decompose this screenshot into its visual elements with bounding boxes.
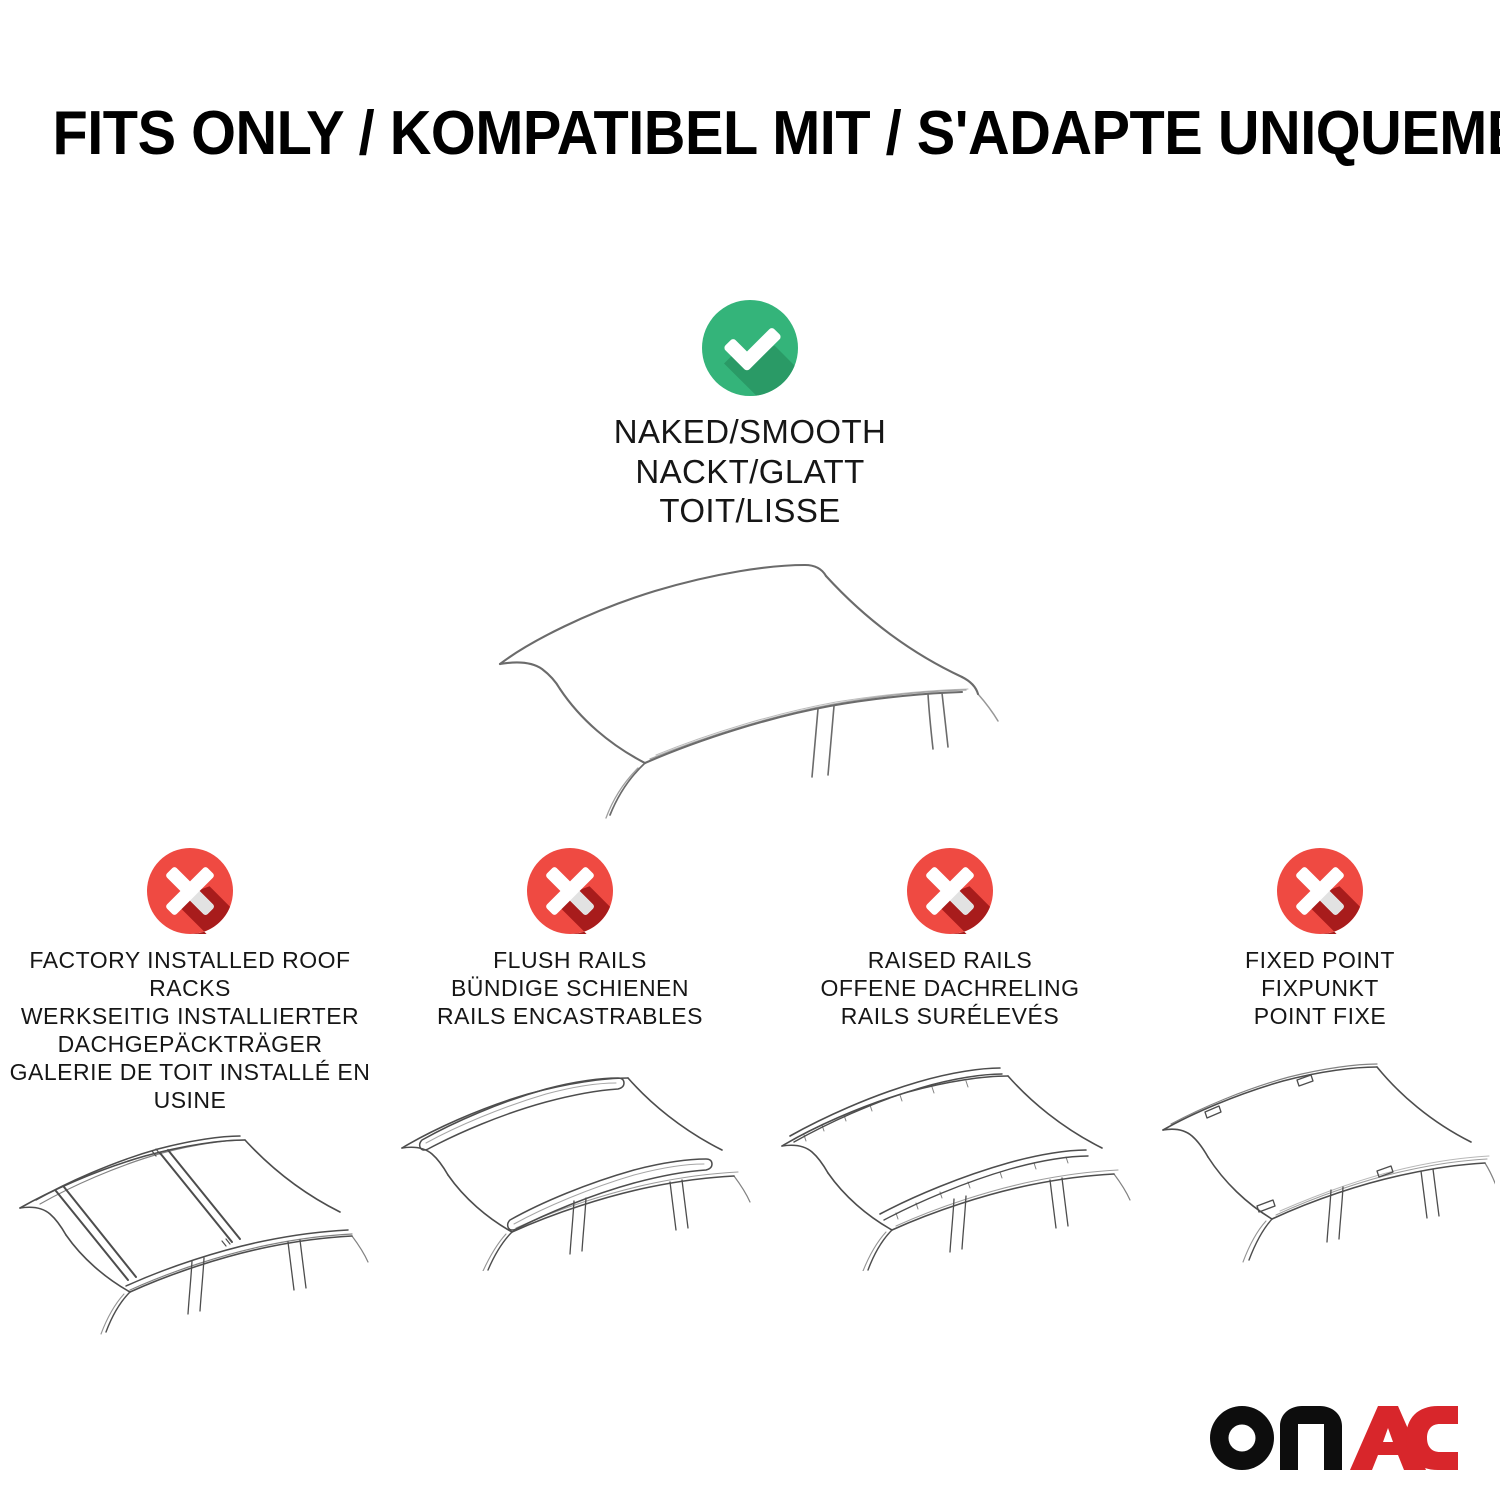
incompatible-item-fixed-point: FIXED POINT FIXPUNKT POINT FIXE	[1140, 848, 1500, 1271]
compatible-label-de: NACKT/GLATT	[614, 452, 887, 492]
incompatible-labels: RAISED RAILS OFFENE DACHRELING RAILS SUR…	[821, 946, 1080, 1050]
label-en: RAISED RAILS	[821, 946, 1080, 974]
check-circle-icon	[702, 300, 798, 396]
label-de-line1: BÜNDIGE SCHIENEN	[437, 974, 703, 1002]
omac-logo	[1208, 1398, 1458, 1474]
compatible-label-fr: TOIT/LISSE	[614, 491, 887, 531]
label-de-line1: FIXPUNKT	[1245, 974, 1395, 1002]
page-title: FITS ONLY / KOMPATIBEL MIT / S'ADAPTE UN…	[53, 98, 1448, 169]
flush-rails-roof-illustration	[380, 1056, 760, 1271]
incompatible-labels: FLUSH RAILS BÜNDIGE SCHIENEN RAILS ENCAS…	[437, 946, 703, 1050]
x-circle-icon	[147, 848, 233, 934]
label-fr: RAILS SURÉLEVÉS	[821, 1002, 1080, 1030]
label-en: FIXED POINT	[1245, 946, 1395, 974]
label-fr: POINT FIXE	[1245, 1002, 1395, 1030]
factory-rack-roof-illustration	[0, 1120, 380, 1335]
label-de-line1: WERKSEITIG INSTALLIERTER	[0, 1002, 380, 1030]
label-fr: RAILS ENCASTRABLES	[437, 1002, 703, 1030]
label-de-line1: OFFENE DACHRELING	[821, 974, 1080, 1002]
fixed-point-roof-illustration	[1145, 1056, 1495, 1271]
logo-letter-c	[1406, 1406, 1458, 1470]
logo-letter-m	[1280, 1406, 1342, 1470]
incompatible-labels: FACTORY INSTALLED ROOF RACKS WERKSEITIG …	[0, 946, 380, 1114]
label-fr: GALERIE DE TOIT INSTALLÉ EN USINE	[0, 1058, 380, 1114]
incompatible-section: FACTORY INSTALLED ROOF RACKS WERKSEITIG …	[0, 848, 1500, 1335]
label-de-line2: DACHGEPÄCKTRÄGER	[0, 1030, 380, 1058]
x-circle-icon	[907, 848, 993, 934]
label-en: FLUSH RAILS	[437, 946, 703, 974]
compatible-label-en: NAKED/SMOOTH	[614, 412, 887, 452]
x-circle-icon	[527, 848, 613, 934]
incompatible-item-raised-rails: RAISED RAILS OFFENE DACHRELING RAILS SUR…	[760, 848, 1140, 1271]
label-en: FACTORY INSTALLED ROOF RACKS	[0, 946, 380, 1002]
incompatible-labels: FIXED POINT FIXPUNKT POINT FIXE	[1245, 946, 1395, 1050]
naked-smooth-roof-illustration	[470, 549, 1030, 839]
incompatible-item-factory-installed-roof-racks: FACTORY INSTALLED ROOF RACKS WERKSEITIG …	[0, 848, 380, 1335]
logo-letter-o	[1210, 1406, 1274, 1470]
incompatible-item-flush-rails: FLUSH RAILS BÜNDIGE SCHIENEN RAILS ENCAS…	[380, 848, 760, 1271]
raised-rails-roof-illustration	[760, 1056, 1140, 1271]
x-circle-icon	[1277, 848, 1363, 934]
compatible-section: NAKED/SMOOTH NACKT/GLATT TOIT/LISSE	[0, 300, 1500, 839]
compatible-labels: NAKED/SMOOTH NACKT/GLATT TOIT/LISSE	[614, 412, 887, 531]
